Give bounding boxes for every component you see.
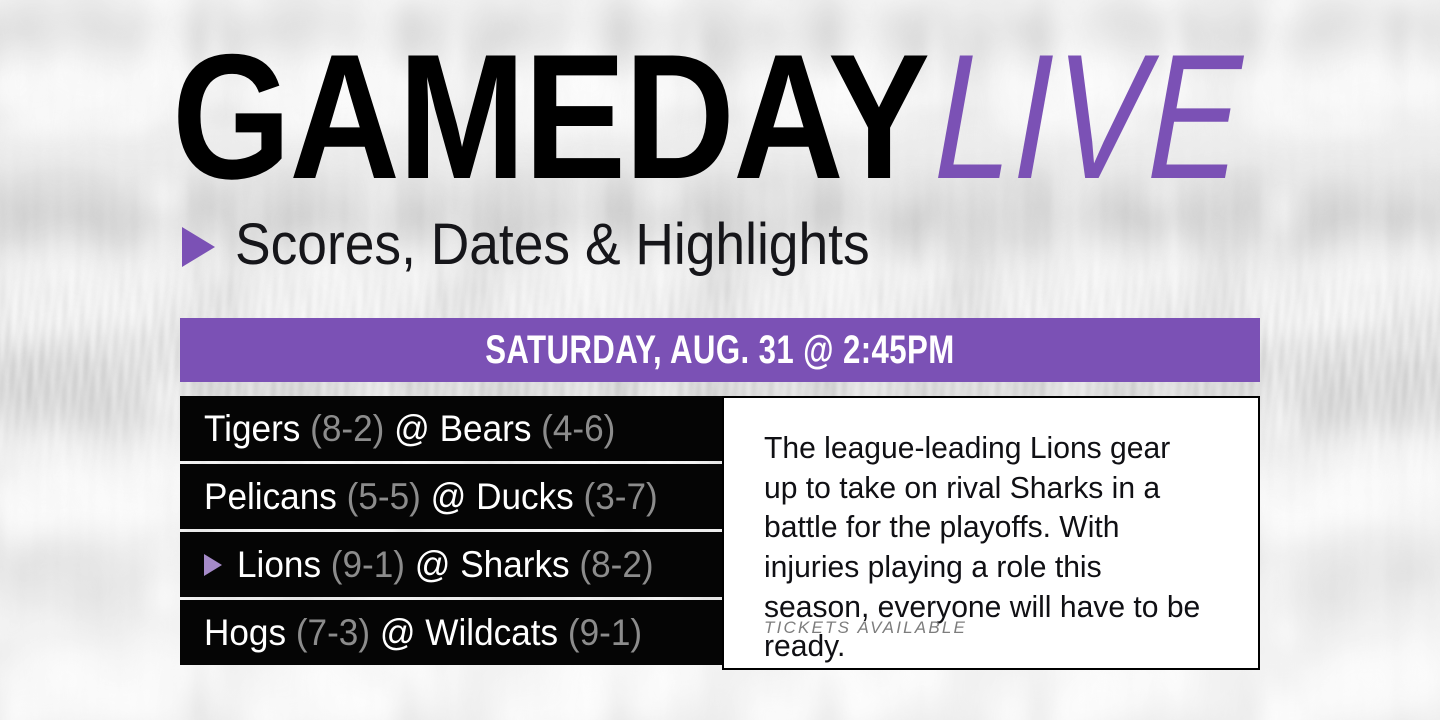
away-team-record: (5-5)	[347, 476, 421, 517]
home-team-record: (9-1)	[568, 612, 642, 653]
matchup-separator: @	[415, 544, 451, 585]
away-team-record: (9-1)	[331, 544, 405, 585]
subtitle-row: Scores, Dates & Highlights	[182, 216, 925, 274]
away-team-name: Tigers	[204, 408, 300, 449]
away-team-name: Pelicans	[204, 476, 337, 517]
game-matchup-text: Pelicans (5-5) @ Ducks (3-7)	[204, 478, 658, 515]
away-team-record: (8-2)	[310, 408, 384, 449]
away-team-name: Lions	[237, 544, 321, 585]
home-team-name: Bears	[440, 408, 532, 449]
triangle-right-icon	[182, 227, 215, 267]
matchup-separator: @	[394, 408, 430, 449]
tickets-available-note: TICKETS AVAILABLE	[764, 618, 967, 638]
game-matchup-text: Hogs (7-3) @ Wildcats (9-1)	[204, 614, 642, 651]
feature-panel: The league-leading Lions gear up to take…	[722, 396, 1260, 670]
game-row[interactable]: Hogs (7-3) @ Wildcats (9-1)	[180, 600, 722, 665]
subtitle-text: Scores, Dates & Highlights	[235, 216, 870, 274]
date-banner: SATURDAY, AUG. 31 @ 2:45PM	[180, 318, 1260, 382]
page-title: GAMEDAY LIVE	[172, 28, 1327, 193]
home-team-record: (3-7)	[584, 476, 658, 517]
game-row[interactable]: Pelicans (5-5) @ Ducks (3-7)	[180, 464, 722, 529]
home-team-name: Ducks	[476, 476, 574, 517]
game-matchup-text: Tigers (8-2) @ Bears (4-6)	[204, 410, 615, 447]
home-team-record: (8-2)	[579, 544, 653, 585]
game-matchup-text: Lions (9-1) @ Sharks (8-2)	[237, 546, 654, 583]
home-team-record: (4-6)	[541, 408, 615, 449]
title-accent-text: LIVE	[933, 28, 1245, 206]
triangle-right-icon	[204, 554, 222, 576]
date-banner-text: SATURDAY, AUG. 31 @ 2:45PM	[485, 330, 954, 370]
home-team-name: Wildcats	[425, 612, 558, 653]
game-row[interactable]: Tigers (8-2) @ Bears (4-6)	[180, 396, 722, 461]
games-list: Tigers (8-2) @ Bears (4-6) Pelicans (5-5…	[180, 396, 722, 665]
game-row-selected[interactable]: Lions (9-1) @ Sharks (8-2)	[180, 532, 722, 597]
gameday-live-graphic: GAMEDAY LIVE Scores, Dates & Highlights …	[0, 0, 1440, 720]
matchup-separator: @	[380, 612, 416, 653]
home-team-name: Sharks	[460, 544, 569, 585]
away-team-record: (7-3)	[296, 612, 370, 653]
matchup-separator: @	[431, 476, 467, 517]
away-team-name: Hogs	[204, 612, 286, 653]
title-main-text: GAMEDAY	[172, 28, 928, 206]
